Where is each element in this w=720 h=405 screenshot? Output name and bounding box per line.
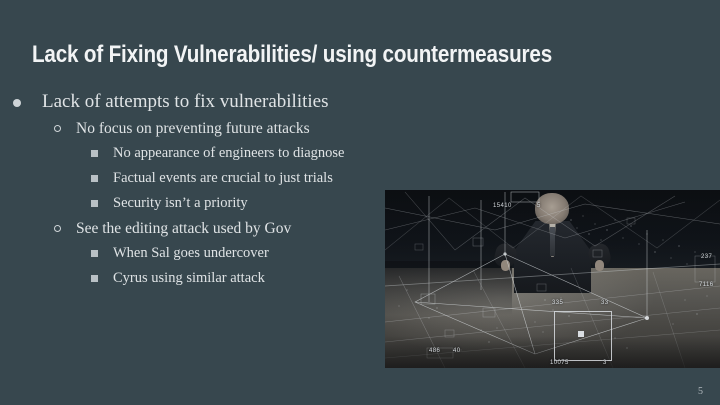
disc-bullet-icon [11, 88, 23, 116]
list-item-label: See the editing attack used by Gov [76, 216, 291, 241]
list-item-label: No focus on preventing future attacks [76, 116, 310, 141]
list-item-label: Security isn’t a priority [113, 191, 248, 216]
list-item-label: When Sal goes undercover [113, 241, 269, 266]
list-item-label: Factual events are crucial to just trial… [113, 166, 333, 191]
list-item-label: Lack of attempts to fix vulnerabilities [42, 88, 329, 116]
list-item-label: Cyrus using similar attack [113, 266, 265, 291]
square-bullet-icon [89, 191, 99, 216]
list-item: Lack of attempts to fix vulnerabilities [0, 88, 400, 116]
bullet-list: Lack of attempts to fix vulnerabilities … [0, 88, 400, 291]
list-item: No appearance of engineers to diagnose [0, 141, 400, 166]
square-bullet-icon [89, 241, 99, 266]
page-number: 5 [698, 386, 703, 397]
list-item: Factual events are crucial to just trial… [0, 166, 400, 191]
list-item-label: No appearance of engineers to diagnose [113, 141, 345, 166]
list-item: When Sal goes undercover [0, 241, 400, 266]
list-item: See the editing attack used by Gov [0, 216, 400, 241]
slide-image: 15410 5 335 33 10075 3 486 40 237 7116 [385, 190, 720, 368]
list-item: No focus on preventing future attacks [0, 116, 400, 141]
list-item: Security isn’t a priority [0, 191, 400, 216]
square-bullet-icon [89, 141, 99, 166]
circle-bullet-icon [52, 216, 62, 241]
image-color-grade [385, 190, 720, 368]
circle-bullet-icon [52, 116, 62, 141]
list-item: Cyrus using similar attack [0, 266, 400, 291]
slide: Lack of Fixing Vulnerabilities/ using co… [0, 0, 720, 405]
square-bullet-icon [89, 166, 99, 191]
square-bullet-icon [89, 266, 99, 291]
slide-title: Lack of Fixing Vulnerabilities/ using co… [32, 40, 582, 70]
